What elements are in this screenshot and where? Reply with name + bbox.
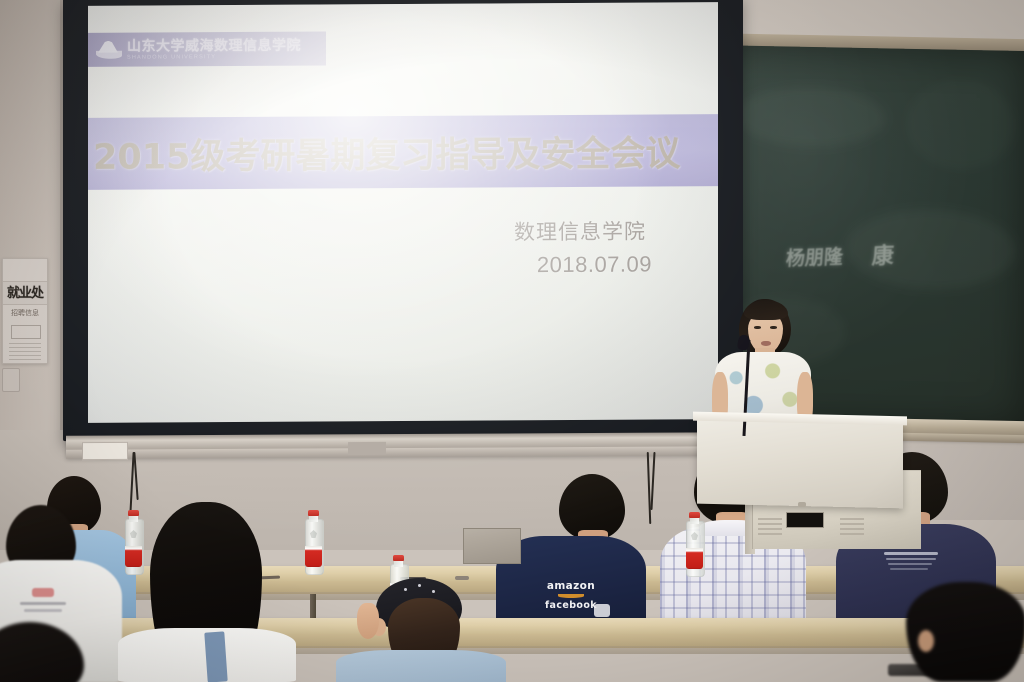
wall-vent-box (463, 528, 521, 564)
wall-notice-textlines (9, 343, 41, 363)
slide-header-bar: 山东大学威海数理信息学院 SHANDONG UNIVERSITY (88, 31, 326, 66)
slide-subtitle-date: 2018.07.09 (514, 251, 652, 279)
blackboard-chalk-right: 康 (871, 238, 895, 271)
podium (697, 416, 903, 509)
student-amazon-tee-label2: facebook (496, 600, 646, 611)
console-knob[interactable] (798, 502, 806, 507)
wall-notice-line1: 招聘信息 (3, 309, 47, 318)
wall-notice-title: 就业处 (3, 281, 47, 305)
slide-subtitle-block: 数理信息学院 2018.07.09 (514, 219, 646, 280)
desk-leg-2 (310, 594, 316, 620)
rail-bracket-left (82, 442, 128, 460)
slide-header-org-en: SHANDONG UNIVERSITY (127, 54, 301, 61)
console-display (786, 512, 824, 528)
slide-title: 2015级考研暑期复习指导及安全会议 (93, 125, 680, 180)
blackboard-chalk-left: 杨朋隆 (785, 242, 844, 271)
speaker-fringe (744, 300, 788, 320)
speaker-mouth (761, 341, 771, 346)
lecture-hall-scene: 就业处 招聘信息 杨朋隆 康 山 (0, 0, 1024, 682)
light-switch-plate[interactable] (2, 368, 20, 392)
slide-header-org-light: 山东大学威海 (127, 37, 214, 54)
slide-title-band: 2015级考研暑期复习指导及安全会议 (88, 114, 718, 190)
slide-header-org-bold: 数理信息学院 (214, 36, 301, 53)
console-vent-right (840, 518, 864, 538)
student-amazon-tee-label: amazon (496, 580, 646, 592)
projection-screen-surface: 山东大学威海数理信息学院 SHANDONG UNIVERSITY 2015级考研… (88, 2, 718, 423)
rail-bracket-center (348, 442, 386, 455)
wall-notice-poster: 就业处 招聘信息 (2, 258, 48, 364)
student-right-foreground-ear (918, 630, 934, 652)
wall-notice-box (11, 325, 41, 339)
slide-header-org: 山东大学威海数理信息学院 (127, 37, 301, 52)
student-cap-ponytail-torso (336, 650, 506, 682)
pen-on-desk-3[interactable] (455, 576, 469, 580)
student-long-hair-bag-strap (204, 631, 227, 682)
university-crest-icon (96, 39, 122, 61)
projection-screen-frame: 山东大学威海数理信息学院 SHANDONG UNIVERSITY 2015级考研… (63, 0, 743, 441)
student-cap-ponytail-hand (357, 603, 379, 639)
console-vent-left (758, 518, 782, 538)
slide-subtitle-org: 数理信息学院 (514, 219, 646, 246)
